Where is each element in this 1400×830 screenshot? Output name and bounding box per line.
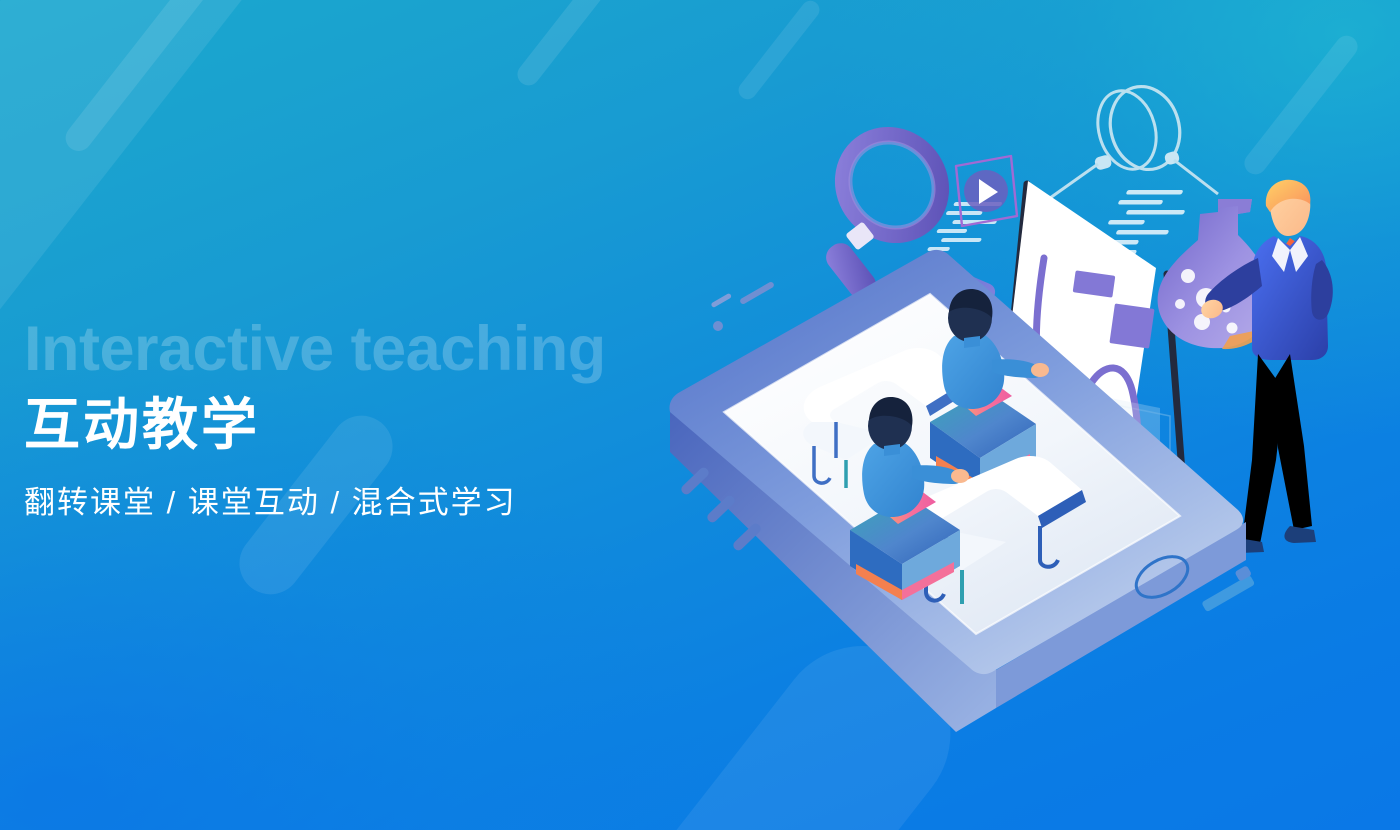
- decor-stripe-thin-2: [513, 0, 629, 90]
- banner-ghost-title: Interactive teaching: [24, 318, 784, 381]
- banner-subtitle: 翻转课堂 / 课堂互动 / 混合式学习: [24, 477, 784, 522]
- decor-stripe-thin-1: [60, 0, 265, 156]
- banner-text-block: Interactive teaching 互动教学 翻转课堂 / 课堂互动 / …: [24, 318, 784, 522]
- play-button-icon[interactable]: [956, 156, 1017, 226]
- page-title: 互动教学: [24, 393, 784, 457]
- hero-banner: Interactive teaching 互动教学 翻转课堂 / 课堂互动 / …: [0, 0, 1400, 830]
